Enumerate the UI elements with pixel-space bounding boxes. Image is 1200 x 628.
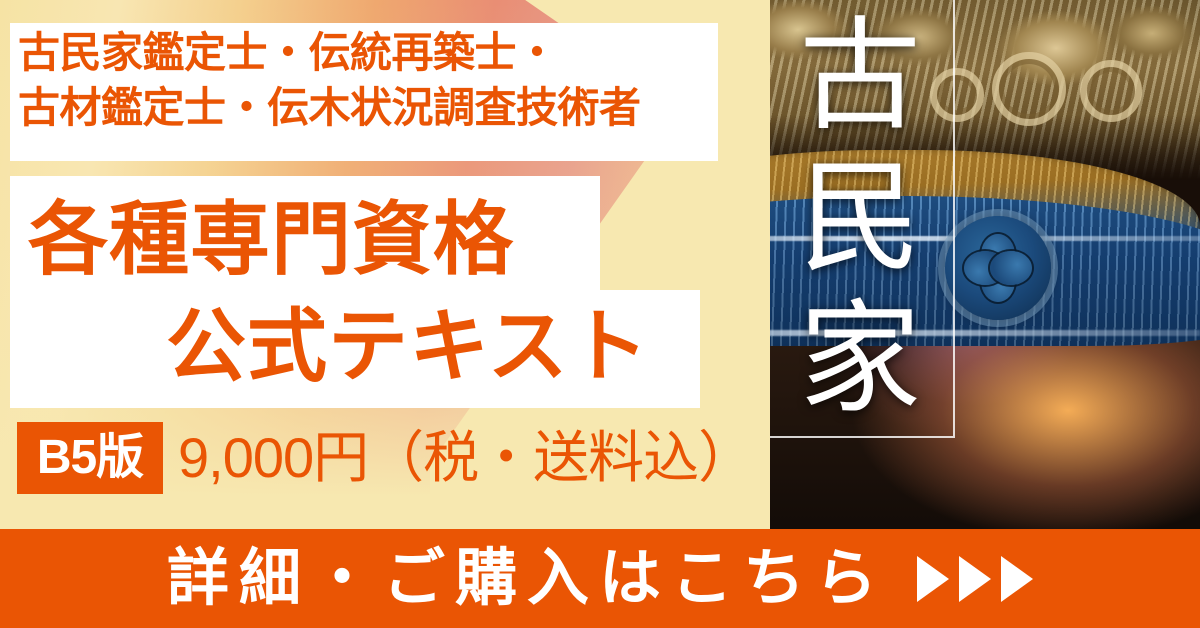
cover-title: 古 民 家: [775, 6, 945, 431]
title-line-1: 各種専門資格: [18, 186, 698, 293]
triangle-right-icon: [917, 556, 949, 602]
cta-bar[interactable]: 詳細・ご購入はこちら: [0, 529, 1200, 628]
cover-title-char-1: 古: [775, 6, 945, 148]
qualifications-text: 古民家鑑定士・伝統再築士・ 古材鑑定士・伝木状況調査技術者: [18, 26, 718, 135]
triangle-right-icon: [1001, 556, 1033, 602]
promo-banner: 古 民 家 伝統構法、古民家活用のための調査と再生の 古民家鑑定士・伝統再築士・…: [0, 0, 1200, 628]
cta-label: 詳細・ご購入はこちら: [167, 548, 887, 610]
title-line-2: 公式テキスト: [18, 293, 698, 400]
price-text: 9,000円（税・送料込）: [178, 424, 753, 492]
cover-title-char-3: 家: [775, 289, 945, 431]
qualifications-line-1: 古民家鑑定士・伝統再築士・: [18, 26, 718, 81]
triangle-right-icon: [959, 556, 991, 602]
qualifications-line-2: 古材鑑定士・伝木状況調査技術者: [18, 81, 718, 136]
cta-arrow-group: [917, 556, 1033, 602]
page-title: 各種専門資格 公式テキスト: [18, 186, 698, 400]
format-badge: B5版: [17, 422, 163, 494]
cover-title-char-2: 民: [775, 148, 945, 290]
